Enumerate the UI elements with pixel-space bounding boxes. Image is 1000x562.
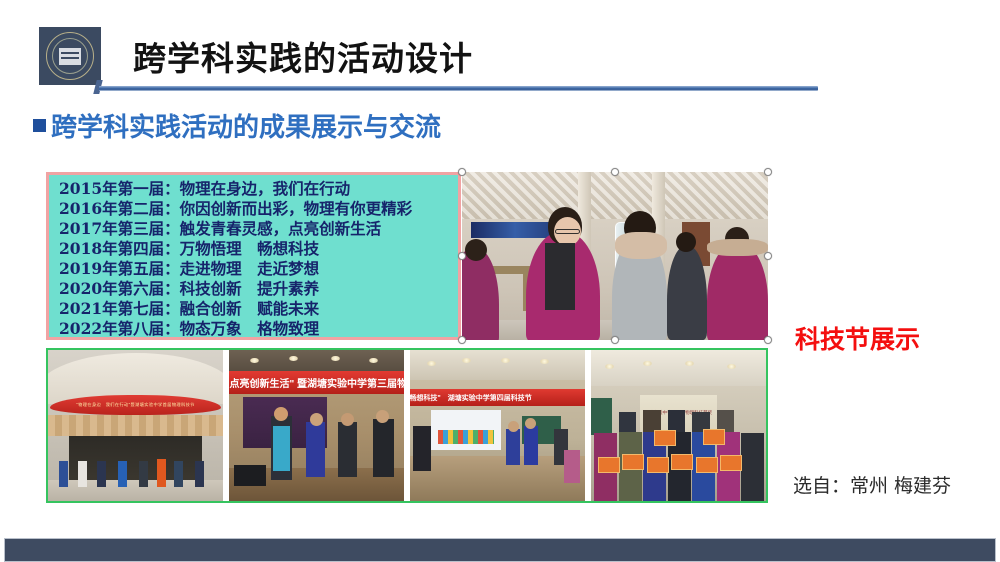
photo-laptop — [234, 465, 266, 486]
title-divider — [99, 86, 818, 91]
certificate — [696, 457, 718, 473]
photo-student-head — [310, 413, 323, 426]
red-caption: 科技节展示 — [795, 320, 920, 356]
strip-photo-presentation[interactable]: 畅想科技" 湖塘实验中学第四届科技节 — [410, 350, 585, 501]
photo-ceiling-light — [289, 356, 298, 361]
seal-center — [59, 48, 81, 65]
main-photo[interactable] — [462, 172, 768, 340]
seal-ring — [46, 32, 94, 80]
school-emblem-logo — [39, 27, 101, 85]
photo-ceiling — [462, 172, 768, 222]
banner-text: "物理在身边 我们在行动"暨湖塘实验中学首届物理科技节 — [76, 402, 194, 408]
strip-photo-entrance[interactable]: "物理在身边 我们在行动"暨湖塘实验中学首届物理科技节 — [48, 350, 223, 501]
certificate — [647, 457, 669, 473]
list-item: 2018年第四届：万物悟理 畅想科技 — [59, 239, 458, 259]
selection-handle-middle-right[interactable] — [764, 252, 772, 260]
photo-person — [59, 461, 68, 487]
photo-ceiling — [410, 350, 585, 380]
selection-handle-bottom-center[interactable] — [611, 336, 619, 344]
photo-person — [78, 461, 87, 487]
photo-student-group — [591, 422, 766, 501]
photo-person — [174, 461, 183, 487]
photo-jacket-dark — [545, 243, 576, 310]
photo-slide-chart — [438, 430, 494, 444]
photo-student — [306, 422, 325, 476]
footer-bar — [4, 538, 996, 562]
photo-student — [338, 422, 357, 476]
photo-tiles — [48, 415, 223, 436]
certificate — [622, 454, 644, 470]
list-item: 2022年第八届：物态万象 格物致理 — [59, 319, 458, 339]
selection-handle-top-left[interactable] — [458, 168, 466, 176]
photo-person — [118, 461, 127, 487]
photo-strip[interactable]: "物理在身边 我们在行动"暨湖塘实验中学首届物理科技节 点亮创新生活" 暨湖塘实… — [46, 348, 768, 503]
photo-person — [413, 426, 431, 471]
photo-ceiling-light — [643, 361, 652, 366]
photo-person — [157, 459, 166, 487]
photo-person — [667, 246, 707, 340]
photo-ceiling-light — [427, 361, 436, 366]
photo-ceiling-light — [540, 359, 549, 364]
photo-ceiling-light — [605, 364, 614, 369]
selection-handle-middle-left[interactable] — [458, 252, 466, 260]
selection-handle-top-right[interactable] — [764, 168, 772, 176]
strip-photo-demo[interactable]: 点亮创新生活" 暨湖塘实验中学第三届物理 — [229, 350, 404, 501]
photo-ceiling — [591, 350, 766, 386]
photo-glasses — [555, 229, 580, 234]
photo-banner: 点亮创新生活" 暨湖塘实验中学第三届物理 — [229, 371, 404, 394]
photo-ceiling-light — [331, 356, 340, 361]
photo-ceiling-light — [685, 361, 694, 366]
photo-student — [373, 419, 394, 476]
section-heading-label: 跨学科实践活动的成果展示与交流 — [51, 107, 441, 144]
selection-handle-bottom-left[interactable] — [458, 336, 466, 344]
certificate — [703, 429, 725, 445]
photo-fur-collar — [707, 239, 768, 256]
list-item: 2015年第一届：物理在身边，我们在行动 — [59, 179, 458, 199]
photo-presenter-badge — [273, 426, 291, 471]
photo-ceiling-light — [501, 358, 510, 363]
photo-projection-screen — [431, 410, 501, 449]
photo-ceiling-light — [250, 358, 259, 363]
list-item: 2016年第二届：你因创新而出彩，物理有你更精彩 — [59, 199, 458, 219]
certificate — [720, 455, 742, 471]
selection-handle-bottom-right[interactable] — [764, 336, 772, 344]
photo-student — [741, 433, 764, 501]
list-item: 2017年第三届：触发青春灵感，点亮创新生活 — [59, 219, 458, 239]
banner-text: 点亮创新生活" 暨湖塘实验中学第三届物理 — [229, 375, 404, 390]
photo-ceiling-light — [462, 358, 471, 363]
photo-fur-collar — [615, 232, 667, 259]
photo-banner: "物理在身边 我们在行动"暨湖塘实验中学首届物理科技节 — [50, 395, 222, 415]
photo-ceiling-light — [727, 364, 736, 369]
photo-student — [524, 426, 538, 465]
selection-handle-top-center[interactable] — [611, 168, 619, 176]
certificate — [671, 454, 693, 470]
list-item: 2019年第五届：走进物理 走近梦想 — [59, 259, 458, 279]
photo-banner: 畅想科技" 湖塘实验中学第四届科技节 — [410, 389, 585, 406]
photo-student — [564, 450, 580, 483]
photo-person — [139, 461, 148, 487]
list-item: 2020年第六届：科技创新 提升素养 — [59, 279, 458, 299]
photo-student — [506, 429, 520, 465]
certificate — [598, 457, 620, 473]
source-caption: 选自：常州 梅建芬 — [793, 471, 951, 498]
festival-list-panel[interactable]: 2015年第一届：物理在身边，我们在行动 2016年第二届：你因创新而出彩，物理… — [46, 172, 461, 340]
section-heading: 跨学科实践活动的成果展示与交流 — [33, 107, 441, 144]
photo-person — [97, 461, 106, 487]
certificate — [654, 430, 676, 446]
square-bullet-icon — [33, 119, 46, 132]
photo-person — [195, 461, 204, 487]
list-item: 2021年第七届：融合创新 赋能未来 — [59, 299, 458, 319]
strip-photo-awards[interactable]: 湖塘实验中学第八届物理科技节奖 — [591, 350, 766, 501]
photo-ceiling-light — [369, 358, 378, 363]
page-title: 跨学科实践的活动设计 — [133, 32, 473, 80]
photo-student-head — [508, 421, 519, 432]
banner-text: 畅想科技" 湖塘实验中学第四届科技节 — [410, 393, 532, 403]
slide-canvas: 跨学科实践的活动设计 跨学科实践活动的成果展示与交流 2015年第一届：物理在身… — [0, 0, 1000, 562]
